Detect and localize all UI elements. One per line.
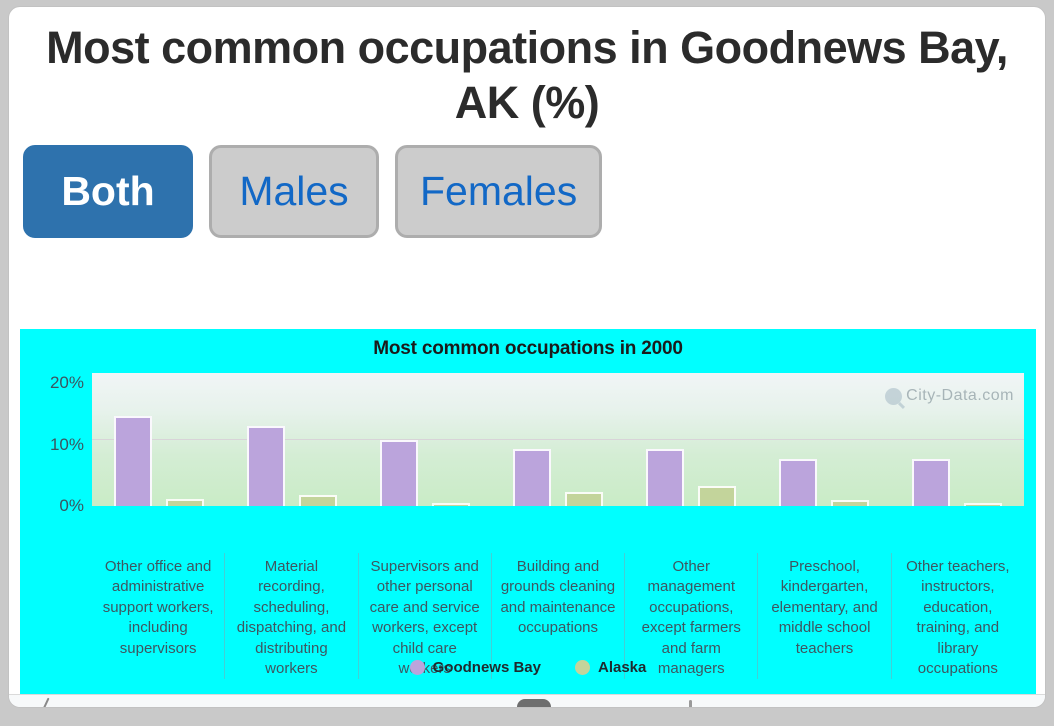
bar-alaska[interactable] bbox=[565, 492, 603, 506]
bar-goodnews-bay[interactable] bbox=[779, 459, 817, 506]
bar-goodnews-bay[interactable] bbox=[247, 426, 285, 506]
bar-goodnews-bay[interactable] bbox=[380, 440, 418, 507]
bar-group bbox=[758, 373, 891, 506]
page-title-wrap: Most common occupations in Goodnews Bay,… bbox=[9, 7, 1045, 137]
y-tick-20: 20% bbox=[50, 373, 84, 393]
bar-group bbox=[891, 373, 1024, 506]
back-chevron-icon[interactable] bbox=[38, 698, 49, 707]
bar-alaska[interactable] bbox=[831, 500, 869, 506]
chart-panel: Most common occupations in 2000 20% 10% … bbox=[20, 329, 1036, 699]
bookmarks-icon[interactable] bbox=[689, 700, 692, 707]
y-tick-0: 0% bbox=[59, 496, 84, 516]
bar-alaska[interactable] bbox=[432, 503, 470, 506]
legend-item-alaska[interactable]: Alaska bbox=[575, 659, 646, 676]
toggle-button-males-label: Males bbox=[239, 168, 348, 215]
legend-label-alaska: Alaska bbox=[598, 659, 646, 676]
legend-item-goodnews-bay[interactable]: Goodnews Bay bbox=[410, 659, 541, 676]
bar-alaska[interactable] bbox=[299, 495, 337, 506]
toggle-button-both-label: Both bbox=[61, 168, 154, 215]
app-card: Most common occupations in Goodnews Bay,… bbox=[8, 6, 1046, 708]
bar-group bbox=[225, 373, 358, 506]
toggle-button-both[interactable]: Both bbox=[23, 145, 193, 238]
bar-group bbox=[92, 373, 225, 506]
plot-outer: 20% 10% 0% City-Data.com Other office an… bbox=[20, 373, 1036, 518]
bar-goodnews-bay[interactable] bbox=[513, 449, 551, 506]
bar-alaska[interactable] bbox=[698, 486, 736, 506]
y-axis: 20% 10% 0% bbox=[20, 373, 92, 518]
gender-toggle-group: Both Males Females bbox=[9, 137, 1045, 256]
bar-goodnews-bay[interactable] bbox=[912, 459, 950, 506]
toggle-button-females[interactable]: Females bbox=[395, 145, 602, 238]
bar-goodnews-bay[interactable] bbox=[114, 416, 152, 506]
legend-swatch-alaska bbox=[575, 660, 590, 675]
bar-group bbox=[491, 373, 624, 506]
bar-group bbox=[625, 373, 758, 506]
browser-toolbar bbox=[9, 694, 1046, 707]
chart-legend: Goodnews Bay Alaska bbox=[20, 659, 1036, 676]
y-tick-10: 10% bbox=[50, 435, 84, 455]
plot-area: City-Data.com bbox=[92, 373, 1024, 506]
toggle-button-females-label: Females bbox=[420, 168, 577, 215]
legend-label-goodnews-bay: Goodnews Bay bbox=[433, 659, 541, 676]
tabs-icon[interactable] bbox=[517, 699, 551, 707]
toggle-button-males[interactable]: Males bbox=[209, 145, 379, 238]
bar-group bbox=[358, 373, 491, 506]
bar-goodnews-bay[interactable] bbox=[646, 449, 684, 506]
bar-alaska[interactable] bbox=[166, 499, 204, 506]
bar-groups bbox=[92, 373, 1024, 506]
legend-swatch-goodnews-bay bbox=[410, 660, 425, 675]
bar-alaska[interactable] bbox=[964, 503, 1002, 506]
chart-title: Most common occupations in 2000 bbox=[20, 329, 1036, 360]
page-title: Most common occupations in Goodnews Bay,… bbox=[39, 21, 1015, 131]
